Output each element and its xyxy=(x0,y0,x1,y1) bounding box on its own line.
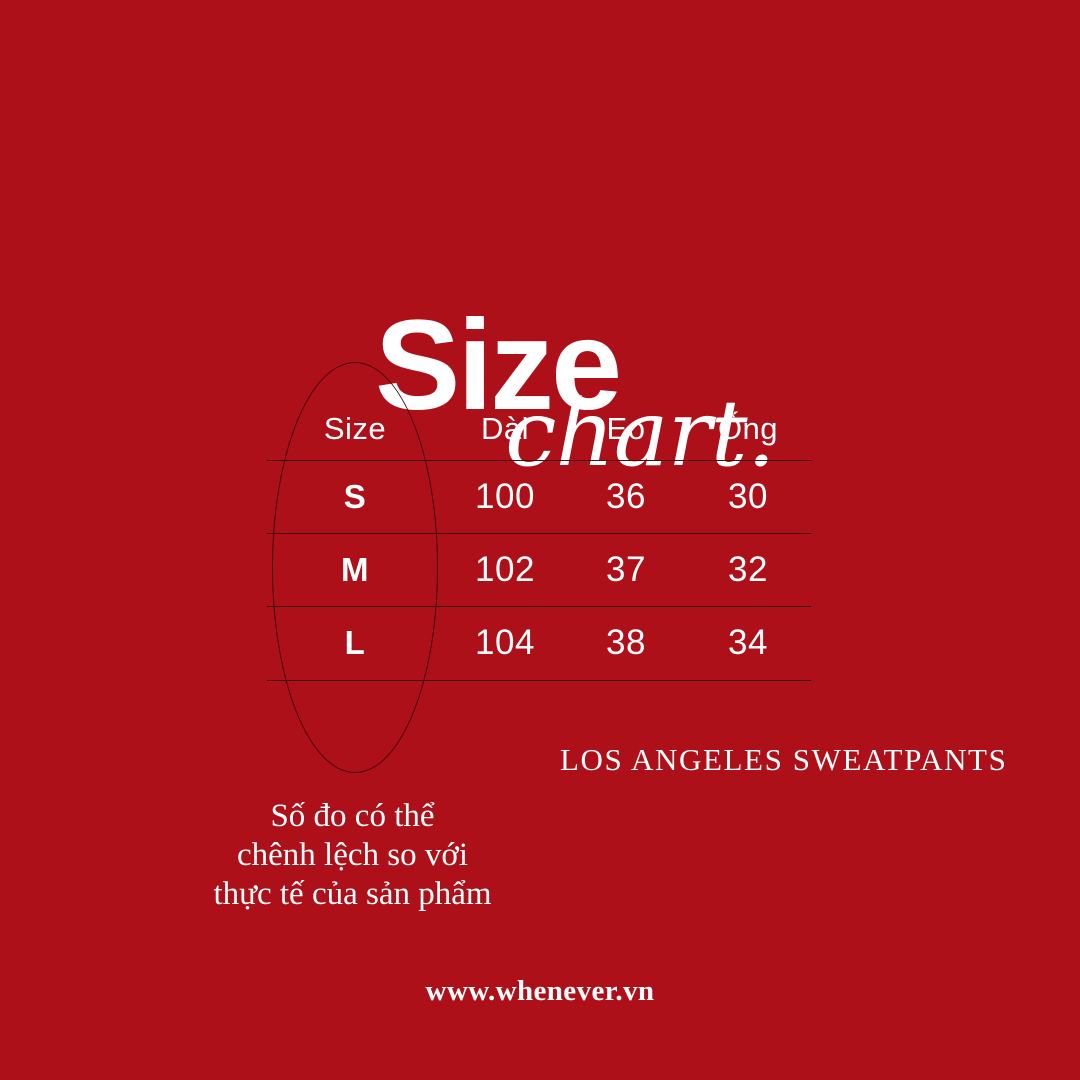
table-row: M 102 37 32 xyxy=(267,533,811,606)
cell-ong: 30 xyxy=(685,477,811,517)
cell-eo: 36 xyxy=(567,477,685,517)
table-row: S 100 36 30 xyxy=(267,460,811,533)
table-divider-line xyxy=(267,460,811,461)
cell-ong: 32 xyxy=(685,550,811,590)
cell-dai: 100 xyxy=(443,477,567,517)
column-header-dai: Dài xyxy=(443,411,567,447)
cell-size: L xyxy=(267,624,443,662)
table-divider-line xyxy=(267,606,811,607)
table-row: L 104 38 34 xyxy=(267,606,811,679)
cell-eo: 37 xyxy=(567,550,685,590)
title-block: Size chart. xyxy=(0,150,1080,350)
product-name: LOS ANGELES SWEATPANTS xyxy=(560,742,1007,778)
cell-dai: 102 xyxy=(443,550,567,590)
table-divider-line xyxy=(267,533,811,534)
table-divider-line xyxy=(267,680,811,681)
size-chart-poster: Size chart. Size Dài Eo Ống S 100 36 30 … xyxy=(0,0,1080,1080)
footer-website-url: www.whenever.vn xyxy=(0,975,1080,1008)
measurement-note: Số đo có thể chênh lệch so với thực tế c… xyxy=(150,797,555,914)
size-chart-table: Size Dài Eo Ống S 100 36 30 M 102 37 32 … xyxy=(267,398,811,679)
cell-size: M xyxy=(267,551,443,589)
note-line-1: Số đo có thể xyxy=(150,797,555,836)
column-header-size: Size xyxy=(267,411,443,447)
note-line-3: thực tế của sản phẩm xyxy=(150,875,555,914)
cell-ong: 34 xyxy=(685,623,811,663)
cell-size: S xyxy=(267,478,443,516)
column-header-ong: Ống xyxy=(685,411,811,447)
note-line-2: chênh lệch so với xyxy=(150,836,555,875)
cell-eo: 38 xyxy=(567,623,685,663)
cell-dai: 104 xyxy=(443,623,567,663)
column-header-eo: Eo xyxy=(567,411,685,447)
table-header-row: Size Dài Eo Ống xyxy=(267,398,811,460)
